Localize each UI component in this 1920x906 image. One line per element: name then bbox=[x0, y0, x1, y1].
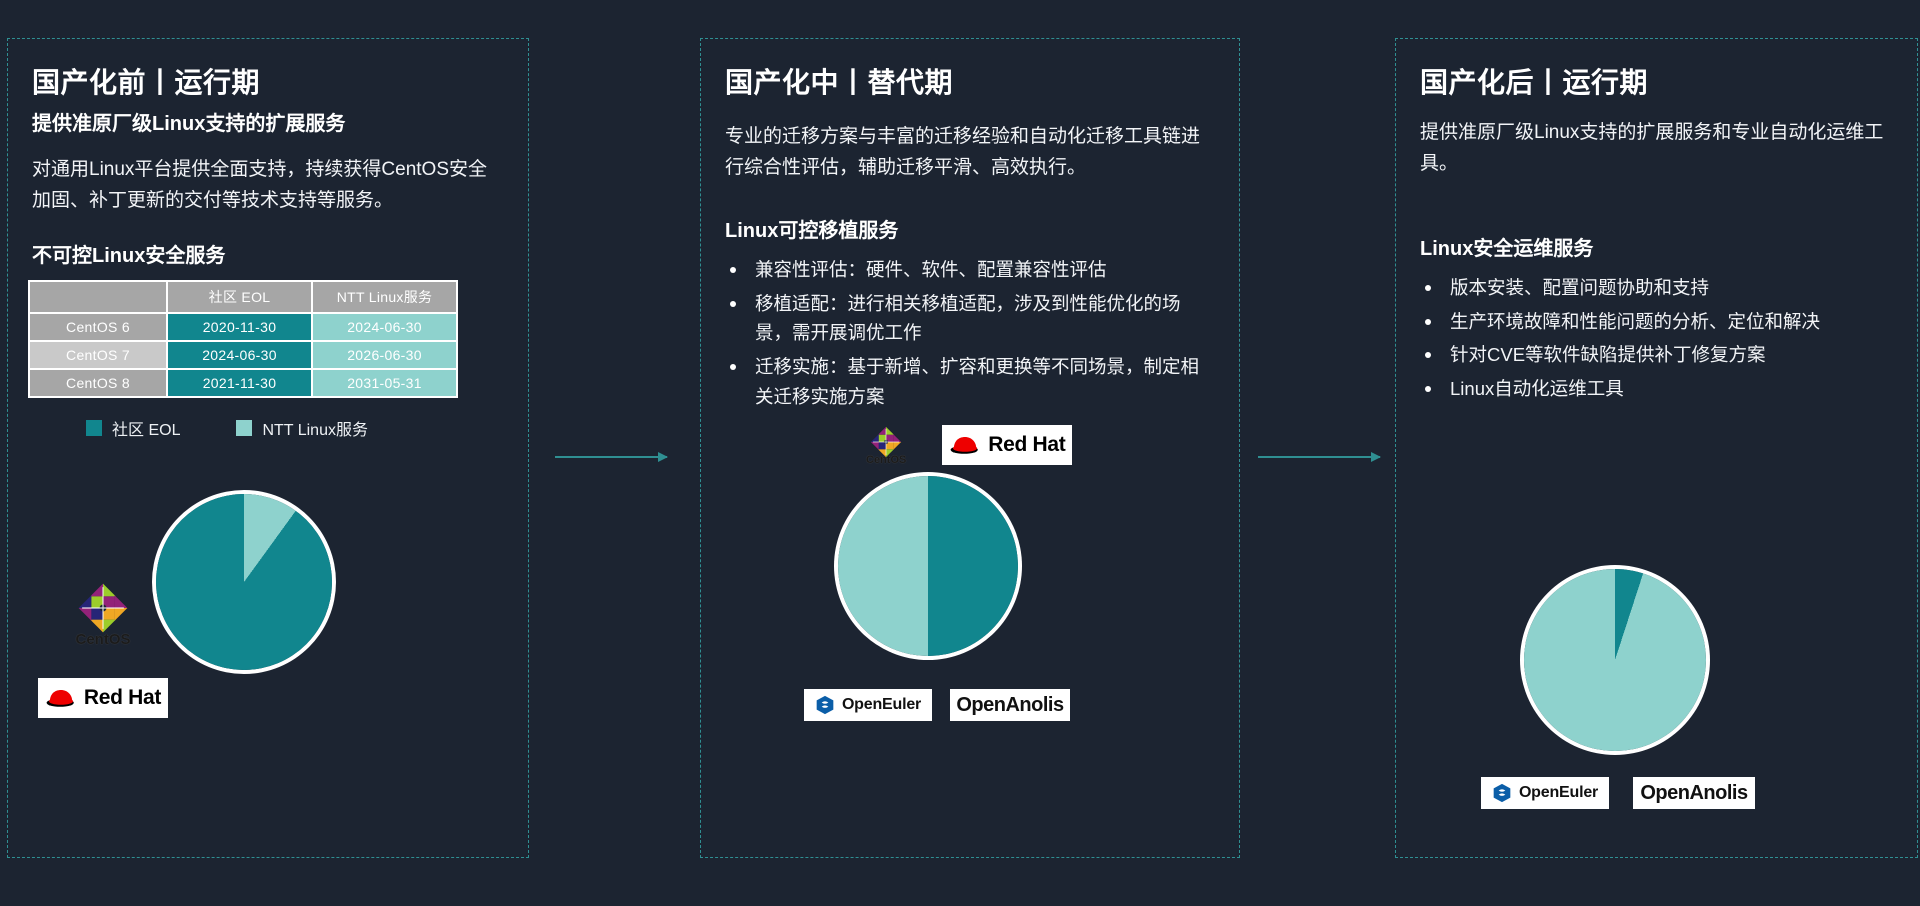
panel-3-title: 国产化后丨运行期 bbox=[1420, 65, 1893, 100]
table-cell-eol: 2021-11-30 bbox=[168, 370, 311, 396]
redhat-fedora-icon bbox=[949, 434, 981, 456]
table-cell-ntt: 2031-05-31 bbox=[313, 370, 456, 396]
redhat-fedora-icon bbox=[45, 687, 77, 709]
legend-item-community-eol: 社区 EOL bbox=[86, 416, 180, 440]
openeuler-mark-icon bbox=[1492, 783, 1512, 803]
panel-3-section-title: Linux安全运维服务 bbox=[1420, 232, 1893, 261]
centos-logo: CentOS bbox=[866, 424, 906, 466]
table-header-ntt-linux: NTT Linux服务 bbox=[313, 282, 456, 312]
list-item: 迁移实施：基于新增、扩容和更换等不同场景，制定相关迁移实施方案 bbox=[725, 352, 1215, 412]
panel-3-bullet-list: 版本安装、配置问题协助和支持 生产环境故障和性能问题的分析、定位和解决 针对CV… bbox=[1420, 273, 1893, 405]
panel-1-title: 国产化前丨运行期 bbox=[32, 65, 504, 100]
table-cell-os: CentOS 8 bbox=[30, 370, 166, 396]
pie-slices bbox=[838, 476, 1018, 656]
panel-before-localization: 国产化前丨运行期 提供准原厂级Linux支持的扩展服务 对通用Linux平台提供… bbox=[7, 38, 529, 858]
openeuler-mark-icon bbox=[815, 695, 835, 715]
table-header-row: 社区 EOL NTT Linux服务 bbox=[30, 282, 456, 312]
legend-label: NTT Linux服务 bbox=[262, 416, 368, 440]
panel-3-pie-chart bbox=[1524, 569, 1706, 751]
panel-1-pie-chart bbox=[156, 494, 332, 670]
list-item: 版本安装、配置问题协助和支持 bbox=[1420, 273, 1893, 303]
redhat-logo-text: Red Hat bbox=[988, 433, 1065, 457]
legend-label: 社区 EOL bbox=[112, 416, 180, 440]
table-corner-cell bbox=[30, 282, 166, 312]
panel-1-subtitle: 提供准原厂级Linux支持的扩展服务 bbox=[32, 110, 504, 139]
openanolis-logo: OpenAnolis bbox=[950, 689, 1070, 721]
list-item: 针对CVE等软件缺陷提供补丁修复方案 bbox=[1420, 340, 1893, 370]
redhat-logo: Red Hat bbox=[38, 678, 168, 718]
centos-logo: CentOS bbox=[38, 579, 168, 648]
list-item: Linux自动化运维工具 bbox=[1420, 374, 1893, 404]
panel-2-body: 专业的迁移方案与丰富的迁移经验和自动化迁移工具链进行综合性评估，辅助迁移平滑、高… bbox=[725, 122, 1215, 184]
list-item: 生产环境故障和性能问题的分析、定位和解决 bbox=[1420, 307, 1893, 337]
table-cell-ntt: 2026-06-30 bbox=[313, 342, 456, 368]
list-item: 移植适配：进行相关移植适配，涉及到性能优化的场景，需开展调优工作 bbox=[725, 289, 1215, 349]
table-row: CentOS 6 2020-11-30 2024-06-30 bbox=[30, 314, 456, 340]
panel-2-title: 国产化中丨替代期 bbox=[725, 65, 1215, 100]
table-cell-ntt: 2024-06-30 bbox=[313, 314, 456, 340]
arrow-panel2-to-panel3-icon bbox=[1258, 456, 1380, 458]
openanolis-logo-text: OpenAnolis bbox=[1640, 782, 1747, 805]
panel-2-bottom-logo-group: OpenEuler OpenAnolis bbox=[804, 689, 1070, 721]
legend-item-ntt-linux: NTT Linux服务 bbox=[236, 416, 368, 440]
centos-logo-text: CentOS bbox=[866, 454, 906, 466]
panel-2-pie-chart bbox=[838, 476, 1018, 656]
table-cell-os: CentOS 7 bbox=[30, 342, 166, 368]
openanolis-logo-text: OpenAnolis bbox=[956, 694, 1063, 717]
legend-swatch-icon bbox=[86, 420, 102, 436]
pie-slices bbox=[156, 494, 332, 670]
panel-3-body: 提供准原厂级Linux支持的扩展服务和专业自动化运维工具。 bbox=[1420, 118, 1893, 180]
panel-1-logo-group: CentOS Red Hat bbox=[38, 579, 168, 718]
table-row: CentOS 8 2021-11-30 2031-05-31 bbox=[30, 370, 456, 396]
openeuler-logo: OpenEuler bbox=[804, 689, 932, 721]
table-cell-eol: 2024-06-30 bbox=[168, 342, 311, 368]
panel-during-localization: 国产化中丨替代期 专业的迁移方案与丰富的迁移经验和自动化迁移工具链进行综合性评估… bbox=[700, 38, 1240, 858]
table-cell-os: CentOS 6 bbox=[30, 314, 166, 340]
arrow-panel1-to-panel2-icon bbox=[555, 456, 667, 458]
panel-after-localization: 国产化后丨运行期 提供准原厂级Linux支持的扩展服务和专业自动化运维工具。 L… bbox=[1395, 38, 1918, 858]
panel-3-logo-group: OpenEuler OpenAnolis bbox=[1481, 777, 1755, 809]
panel-2-top-logo-group: CentOS Red Hat bbox=[866, 424, 1072, 466]
table-row: CentOS 7 2024-06-30 2026-06-30 bbox=[30, 342, 456, 368]
openeuler-logo: OpenEuler bbox=[1481, 777, 1609, 809]
panel-1-body: 对通用Linux平台提供全面支持，持续获得CentOS安全加固、补丁更新的交付等… bbox=[32, 155, 504, 217]
pie-slices bbox=[1524, 569, 1706, 751]
panel-1-section-title: 不可控Linux安全服务 bbox=[32, 239, 504, 268]
panel-2-section-title: Linux可控移植服务 bbox=[725, 214, 1215, 243]
centos-eol-table: 社区 EOL NTT Linux服务 CentOS 6 2020-11-30 2… bbox=[28, 280, 458, 398]
redhat-logo-text: Red Hat bbox=[84, 686, 161, 710]
table-header-community-eol: 社区 EOL bbox=[168, 282, 311, 312]
panel-2-bullet-list: 兼容性评估：硬件、软件、配置兼容性评估 移植适配：进行相关移植适配，涉及到性能优… bbox=[725, 255, 1215, 413]
openanolis-logo: OpenAnolis bbox=[1633, 777, 1755, 809]
slide-board: 国产化前丨运行期 提供准原厂级Linux支持的扩展服务 对通用Linux平台提供… bbox=[0, 0, 1920, 906]
table-cell-eol: 2020-11-30 bbox=[168, 314, 311, 340]
list-item: 兼容性评估：硬件、软件、配置兼容性评估 bbox=[725, 255, 1215, 285]
chart-legend: 社区 EOL NTT Linux服务 bbox=[86, 416, 528, 440]
openeuler-logo-text: OpenEuler bbox=[1519, 784, 1598, 802]
centos-mark-icon bbox=[74, 579, 132, 637]
legend-swatch-icon bbox=[236, 420, 252, 436]
redhat-logo: Red Hat bbox=[942, 425, 1072, 465]
openeuler-logo-text: OpenEuler bbox=[842, 696, 921, 714]
